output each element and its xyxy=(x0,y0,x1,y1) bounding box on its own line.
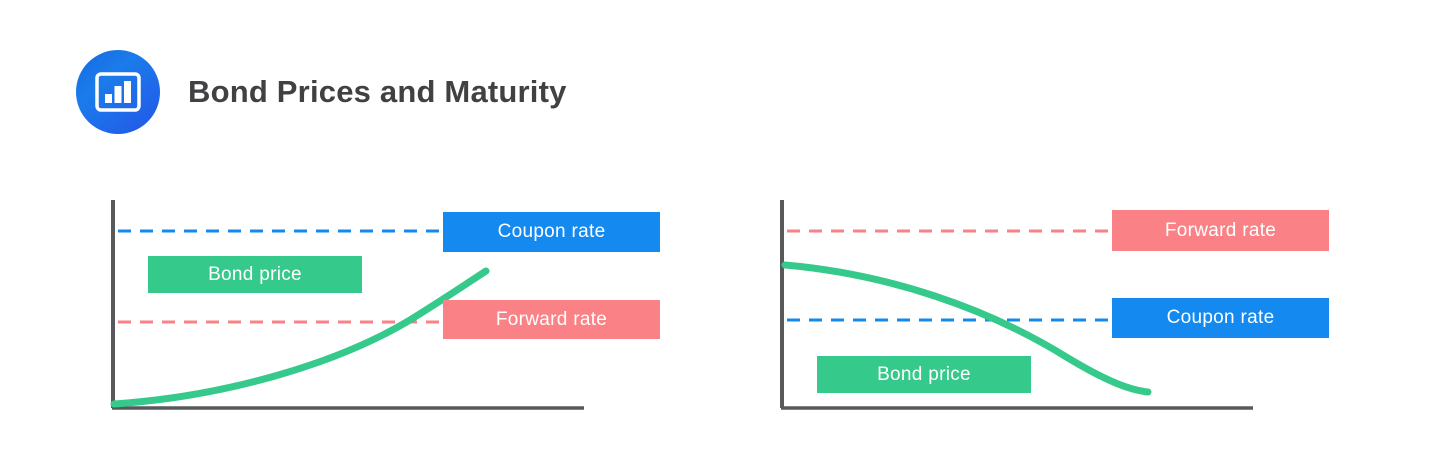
legend-forward-rate-label: Forward rate xyxy=(496,309,607,331)
chart-premium-bond: Coupon rate Bond price Forward rate xyxy=(0,0,700,466)
legend-coupon-rate[interactable]: Coupon rate xyxy=(1112,298,1329,338)
legend-bond-price-label: Bond price xyxy=(208,264,302,286)
legend-coupon-rate-label: Coupon rate xyxy=(1167,307,1275,329)
legend-coupon-rate-label: Coupon rate xyxy=(498,221,606,243)
legend-bond-price-label: Bond price xyxy=(877,364,971,386)
legend-bond-price[interactable]: Bond price xyxy=(148,256,362,293)
legend-forward-rate[interactable]: Forward rate xyxy=(1112,210,1329,251)
legend-bond-price[interactable]: Bond price xyxy=(817,356,1031,393)
legend-forward-rate[interactable]: Forward rate xyxy=(443,300,660,339)
legend-coupon-rate[interactable]: Coupon rate xyxy=(443,212,660,252)
chart-discount-bond: Forward rate Coupon rate Bond price xyxy=(668,0,1368,466)
legend-forward-rate-label: Forward rate xyxy=(1165,220,1276,242)
